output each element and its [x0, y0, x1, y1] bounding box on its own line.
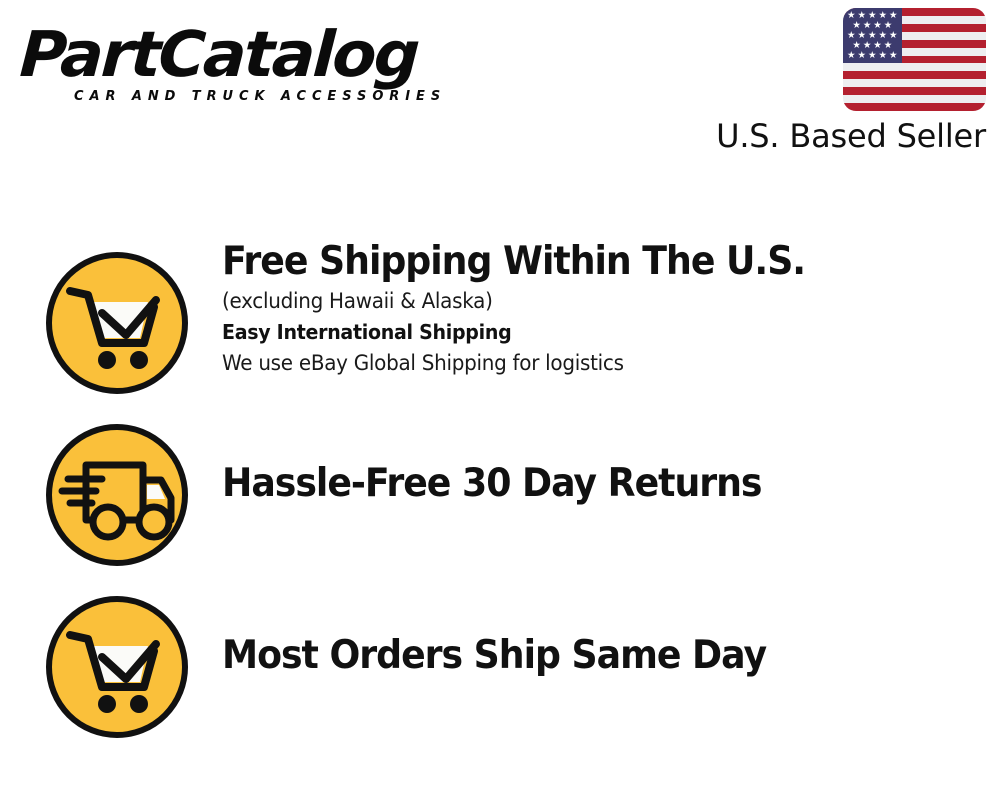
brand-wordmark: PartCatalog — [18, 18, 501, 92]
feature-title: Most Orders Ship Same Day — [222, 632, 929, 680]
feature-text-block: Most Orders Ship Same Day — [222, 632, 982, 680]
brand-tagline: CAR AND TRUCK ACCESSORIES — [74, 88, 475, 104]
brand-logo: PartCatalog CAR AND TRUCK ACCESSORIES — [22, 18, 492, 118]
delivery-truck-icon — [44, 422, 190, 568]
promo-banner: PartCatalog CAR AND TRUCK ACCESSORIES ★★… — [0, 0, 1000, 800]
us-based-seller-label: U.S. Based Seller — [706, 117, 986, 155]
feature-row: Hassle-Free 30 Day Returns — [0, 408, 1000, 580]
cart-check-icon — [44, 250, 190, 396]
feature-text-block: Free Shipping Within The U.S. (excluding… — [222, 238, 982, 378]
cart-check-icon — [44, 594, 190, 740]
flag-stars: ★★★★★ ★★★★ ★★★★★ ★★★★ ★★★★★ — [843, 8, 902, 63]
feature-row: Free Shipping Within The U.S. (excluding… — [0, 236, 1000, 408]
feature-subtitle: Easy International Shipping — [222, 316, 944, 348]
feature-text-block: Hassle-Free 30 Day Returns — [222, 460, 982, 508]
feature-row: Most Orders Ship Same Day — [0, 580, 1000, 752]
feature-note: (excluding Hawaii & Alaska) — [222, 286, 944, 316]
feature-title: Hassle-Free 30 Day Returns — [222, 460, 929, 508]
feature-list: Free Shipping Within The U.S. (excluding… — [0, 236, 1000, 752]
us-based-seller-badge: ★★★★★ ★★★★ ★★★★★ ★★★★ ★★★★★ U.S. Based S… — [706, 8, 986, 155]
us-flag-icon: ★★★★★ ★★★★ ★★★★★ ★★★★ ★★★★★ — [843, 8, 986, 111]
feature-title: Free Shipping Within The U.S. — [222, 238, 929, 286]
feature-subnote: We use eBay Global Shipping for logistic… — [222, 348, 944, 378]
